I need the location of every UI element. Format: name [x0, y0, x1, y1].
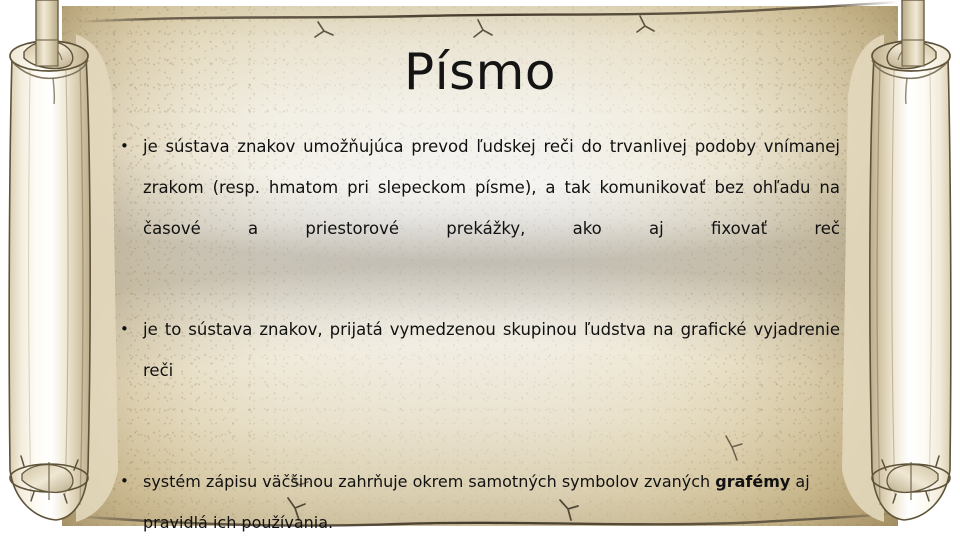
slide-canvas: Písmo • je sústava znakov umožňujúca pre… [0, 0, 960, 540]
parchment-sheet [62, 6, 898, 526]
paper-grain-texture [62, 6, 898, 526]
paper-grain-edge-texture [62, 6, 898, 526]
